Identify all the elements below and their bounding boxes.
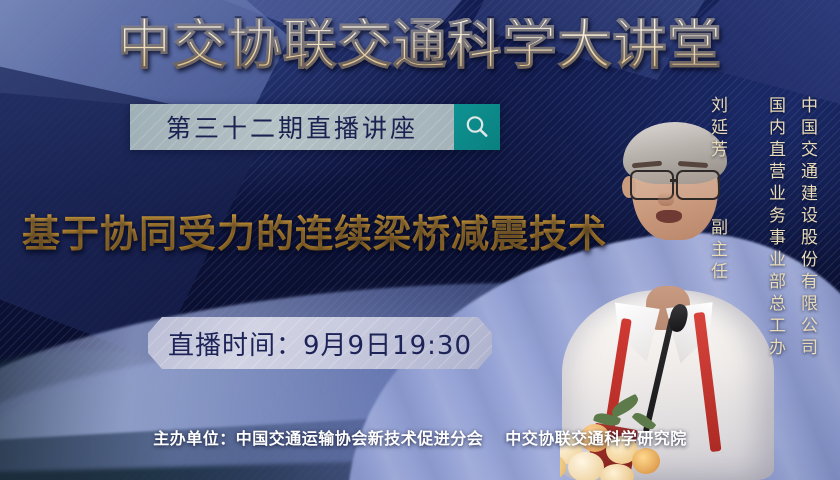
footer-organizer-1: 中国交通运输协会新技术促进分会: [236, 429, 484, 448]
speaker-glasses-lens-right: [676, 170, 720, 200]
speaker-mouth: [656, 210, 682, 223]
speaker-glasses: [626, 170, 724, 196]
subtitle-label: 第三十二期直播讲座: [130, 104, 454, 150]
search-icon[interactable]: [454, 104, 500, 150]
broadcast-time-chip: 直播时间：9月9日19:30: [148, 317, 492, 369]
live-lecture-poster: 中交协联交通科学大讲堂 第三十二期直播讲座 基于协同受力的连续梁桥减震技术 直播…: [0, 0, 840, 480]
poster-title: 中交协联交通科学大讲堂: [0, 18, 840, 72]
speaker-department: 国内直营业务事业部总工办: [763, 96, 788, 360]
footer-organizer-2: 中交协联交通科学研究院: [505, 429, 687, 448]
footer-organizers: 主办单位：中国交通运输协会新技术促进分会中交协联交通科学研究院: [0, 425, 840, 449]
speaker-role: 副主任: [705, 218, 730, 284]
footer-organizer-label: 主办单位：: [153, 429, 236, 448]
subtitle-banner: 第三十二期直播讲座: [130, 104, 500, 150]
speaker-nose: [658, 192, 674, 206]
speaker-name: 刘延芳: [705, 96, 730, 162]
speaker-company: 中国交通建设股份有限公司: [795, 96, 820, 360]
lecture-headline: 基于协同受力的连续梁桥减震技术: [22, 203, 607, 258]
